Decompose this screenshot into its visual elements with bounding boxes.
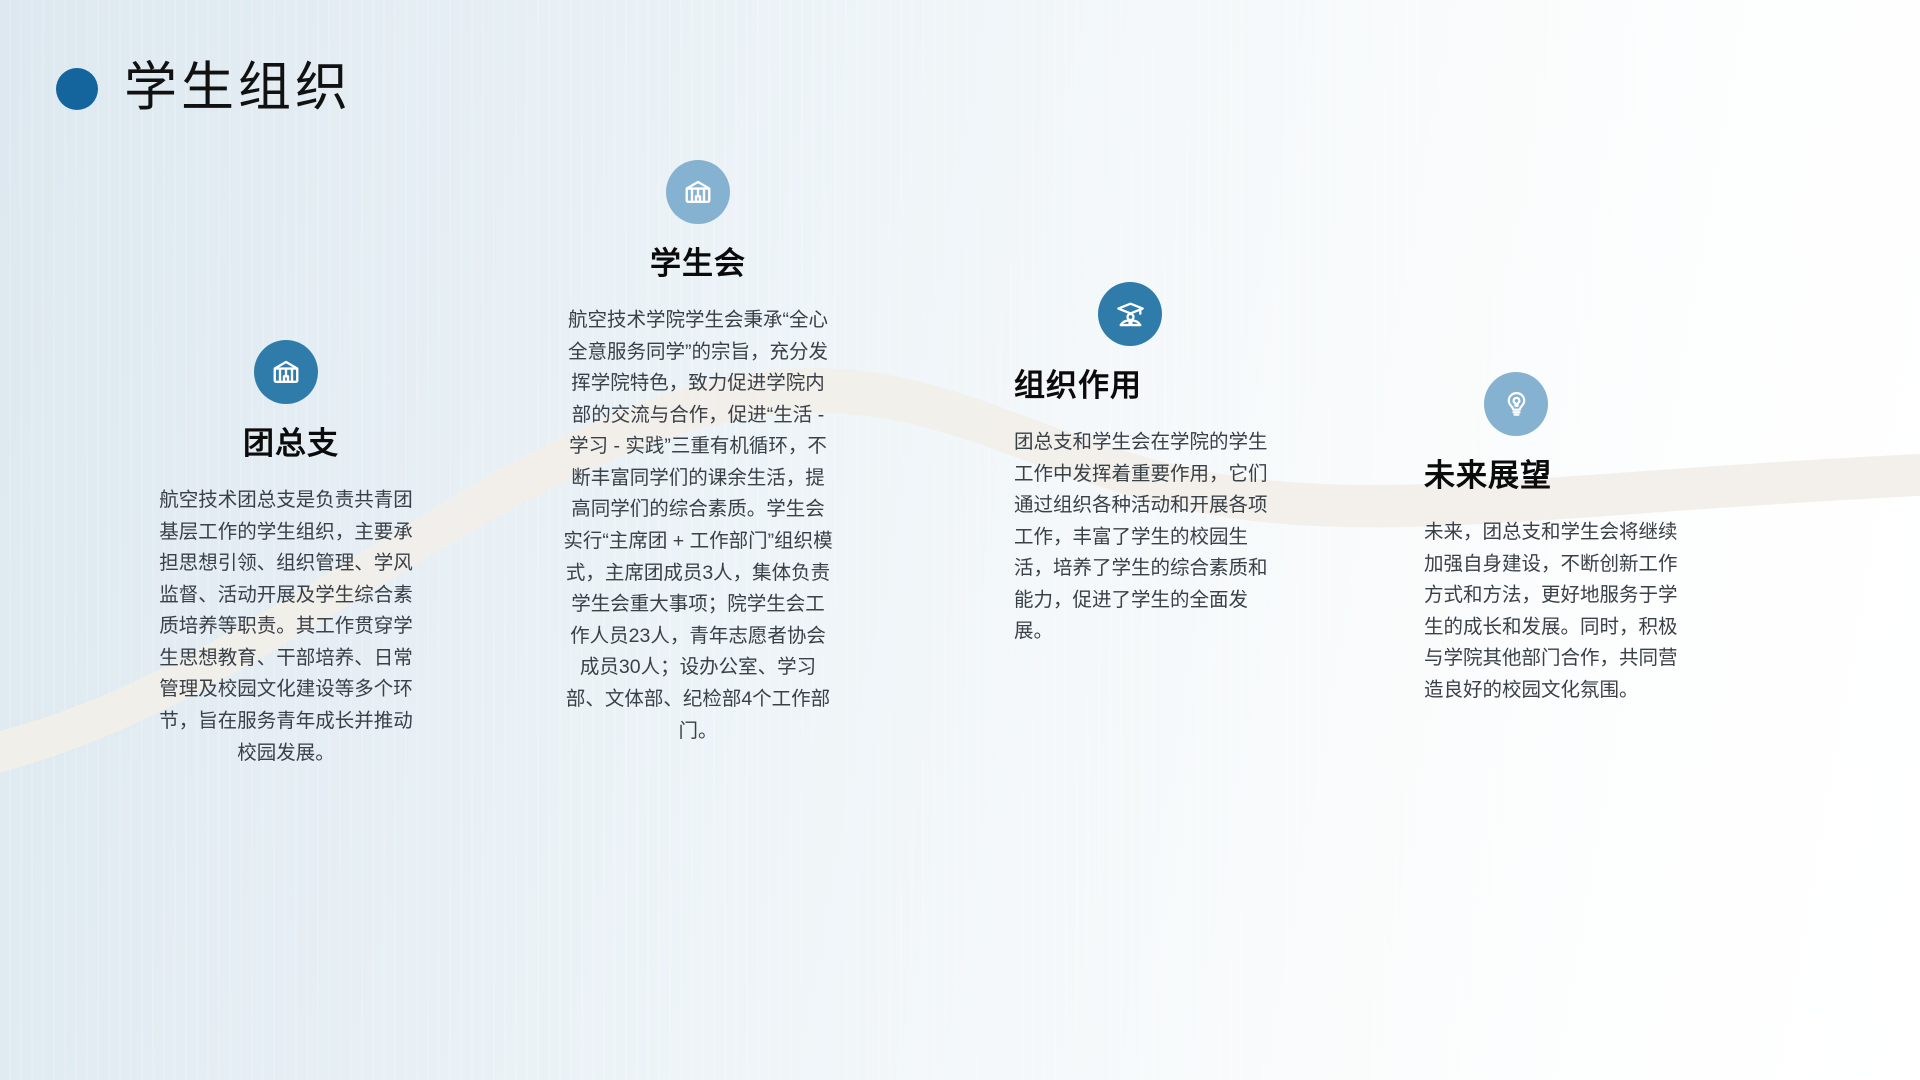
step-body: 航空技术团总支是负责共青团基层工作的学生组织，主要承担思想引领、组织管理、学风监… [150, 485, 422, 769]
slide-header: 学生组织 [56, 62, 352, 115]
step-item-zuzhizuoyong: 组织作用 团总支和学生会在学院的学生工作中发挥着重要作用，它们通过组织各种活动和… [1014, 282, 1286, 648]
bank-building-icon [271, 357, 301, 387]
step-item-xueshenghui: 学生会 航空技术学院学生会秉承“全心全意服务同学”的宗旨，充分发挥学院特色，致力… [562, 160, 834, 747]
step-body: 未来，团总支和学生会将继续加强自身建设，不断创新工作方式和方法，更好地服务于学生… [1424, 517, 1696, 706]
step-title: 组织作用 [1014, 360, 1286, 405]
step-body: 航空技术学院学生会秉承“全心全意服务同学”的宗旨，充分发挥学院特色，致力促进学院… [562, 305, 834, 747]
step-icon-badge [1484, 372, 1548, 436]
step-icon-badge [666, 160, 730, 224]
step-title: 团总支 [160, 418, 422, 463]
step-title: 学生会 [562, 238, 834, 283]
step-body: 团总支和学生会在学院的学生工作中发挥着重要作用，它们通过组织各种活动和开展各项工… [1014, 427, 1286, 648]
lightbulb-idea-icon [1502, 390, 1531, 419]
step-icon-badge [1098, 282, 1162, 346]
bank-building-icon [683, 177, 713, 207]
step-item-tuanzongzhi: 团总支 航空技术团总支是负责共青团基层工作的学生组织，主要承担思想引领、组织管理… [150, 340, 422, 769]
graduate-icon [1115, 299, 1146, 330]
step-item-weilaizhanwang: 未来展望 未来，团总支和学生会将继续加强自身建设，不断创新工作方式和方法，更好地… [1424, 372, 1696, 706]
slide-canvas: 学生组织 团总支 航空技术团总支是负责共青团基层工作的学生组织，主要承担思想引领… [0, 0, 1920, 1080]
step-title: 未来展望 [1424, 450, 1696, 495]
bullet-dot-icon [56, 68, 98, 110]
page-title: 学生组织 [124, 62, 352, 115]
step-icon-badge [254, 340, 318, 404]
